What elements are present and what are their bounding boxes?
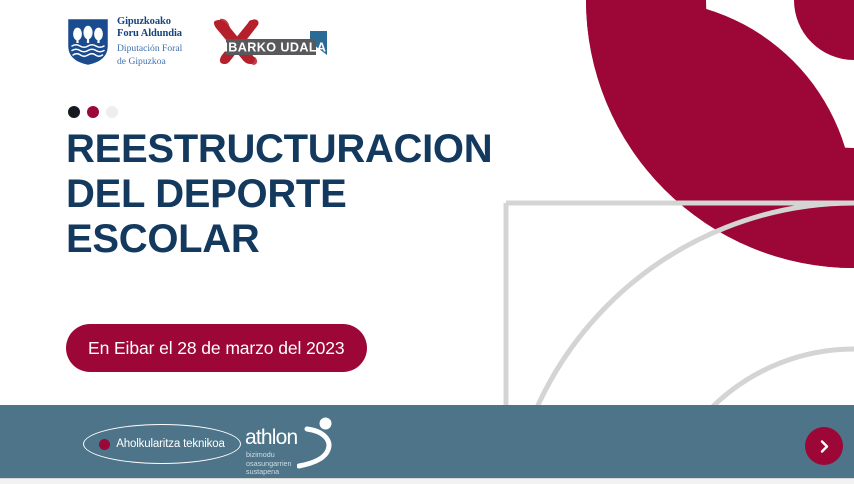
gipuzkoa-line2: Foru Aldundia	[117, 28, 182, 40]
athlon-logo: athlon bizimodu osasungarrien sustapena	[245, 418, 331, 478]
page-title-line-2: DEL DEPORTE	[66, 172, 536, 217]
athlon-tagline-line-3: sustapena	[246, 468, 292, 477]
next-slide-button[interactable]	[805, 427, 843, 465]
chevron-right-icon	[817, 439, 832, 454]
gipuzkoa-logo: Gipuzkoako Foru Aldundia Diputación Fora…	[68, 16, 182, 67]
page-title-line-1: REESTRUCTURACION	[66, 127, 536, 172]
advisory-label: Aholkularitza teknikoa	[116, 438, 225, 450]
gipuzkoa-line4: de Gipuzkoa	[117, 56, 182, 67]
athlon-tagline: bizimodu osasungarrien sustapena	[246, 451, 292, 477]
athlon-runner-icon	[297, 416, 337, 472]
gipuzkoa-line3: Diputación Foral	[117, 43, 182, 54]
crimson-arc-shape	[586, 0, 854, 268]
gipuzkoa-wordmark: Gipuzkoako Foru Aldundia Diputación Fora…	[117, 16, 182, 67]
dot-crimson[interactable]	[87, 106, 99, 118]
eibarko-udala-logo: EIBARKO UDALA	[208, 17, 328, 67]
advisory-dot-icon	[99, 439, 110, 450]
advisory-badge: Aholkularitza teknikoa	[83, 424, 241, 464]
page-title: REESTRUCTURACION DEL DEPORTE ESCOLAR	[66, 127, 536, 262]
dot-dark[interactable]	[68, 106, 80, 118]
bottom-strip	[0, 478, 854, 484]
event-date-badge[interactable]: En Eibar el 28 de marzo del 2023	[66, 324, 367, 372]
eibar-banner-text: EIBARKO UDALA	[216, 40, 327, 54]
presentation-slide: Gipuzkoako Foru Aldundia Diputación Fora…	[0, 0, 854, 484]
athlon-wordmark: athlon	[245, 427, 297, 448]
gipuzkoa-line1: Gipuzkoako	[117, 16, 182, 28]
advisory-content: Aholkularitza teknikoa	[83, 424, 241, 464]
dots-indicator	[68, 106, 118, 118]
gipuzkoa-shield-icon	[68, 19, 108, 65]
logo-row: Gipuzkoako Foru Aldundia Diputación Fora…	[68, 16, 328, 67]
dot-gray[interactable]	[106, 106, 118, 118]
page-title-line-3: ESCOLAR	[66, 217, 536, 262]
